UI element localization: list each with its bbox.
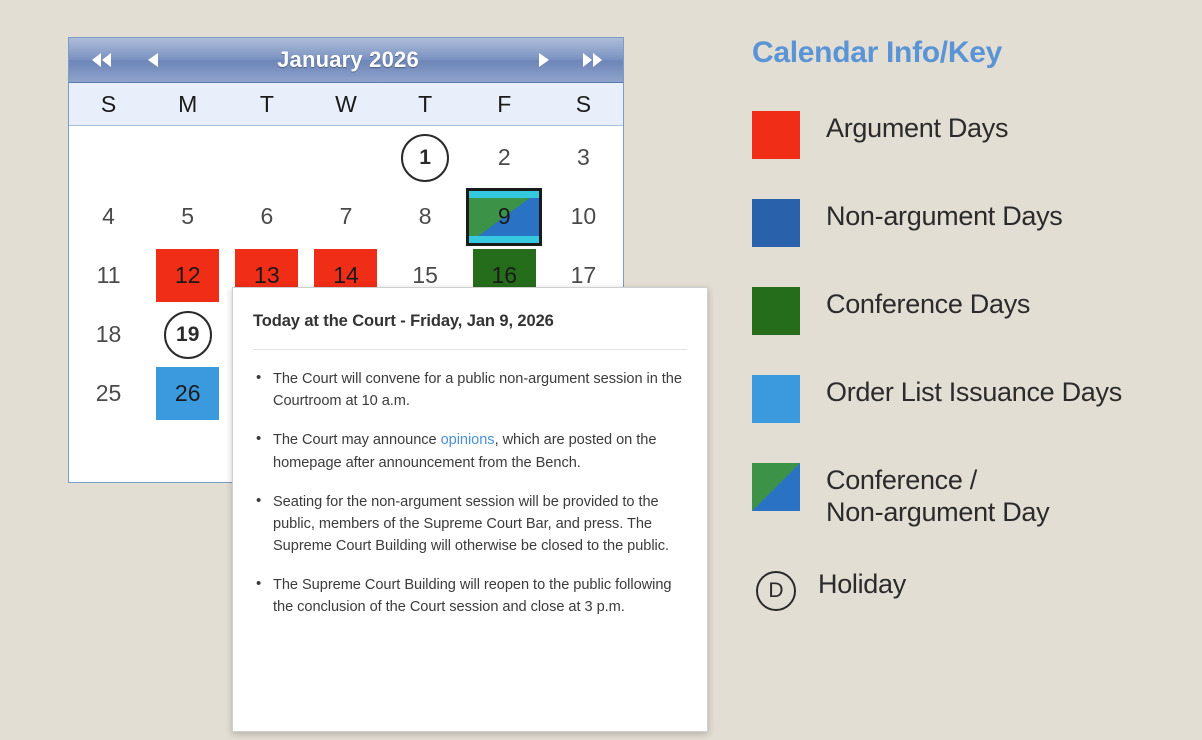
day-cell-empty xyxy=(148,128,227,187)
tooltip-bullet-text: The Court will convene for a public non-… xyxy=(273,371,682,409)
day-cell-empty xyxy=(69,128,148,187)
legend-item: Non-argument Days xyxy=(752,197,1182,247)
next-year-icon[interactable] xyxy=(575,43,609,77)
day-number: 16 xyxy=(491,262,517,289)
tooltip-bullet-text: The Supreme Court Building will reopen t… xyxy=(273,577,671,615)
day-cell[interactable]: 2 xyxy=(465,128,544,187)
weekday-label: T xyxy=(227,83,306,125)
legend-label-line-2: Non-argument Day xyxy=(826,497,1049,529)
day-number: 11 xyxy=(97,262,121,289)
day-number: 13 xyxy=(254,262,280,289)
day-number: 14 xyxy=(333,262,359,289)
weekday-label: T xyxy=(386,83,465,125)
legend-item: Argument Days xyxy=(752,109,1182,159)
calendar-week-row: 45678910 xyxy=(69,187,623,246)
tooltip-bullet: The Supreme Court Building will reopen t… xyxy=(273,574,685,618)
day-cell[interactable]: 26 xyxy=(148,364,227,423)
weekday-label: S xyxy=(544,83,623,125)
legend-color-swatch xyxy=(752,111,800,159)
legend-title: Calendar Info/Key xyxy=(752,36,1182,70)
opinions-link[interactable]: opinions xyxy=(441,432,495,448)
weekday-label: F xyxy=(465,83,544,125)
legend-item: Conference /Non-argument Day xyxy=(752,461,1182,529)
day-number: 7 xyxy=(340,203,353,230)
day-number: 25 xyxy=(96,380,122,407)
prev-year-icon[interactable] xyxy=(85,43,119,77)
day-cell[interactable]: 7 xyxy=(306,187,385,246)
tooltip-bullet: The Court may announce opinions, which a… xyxy=(273,429,685,473)
day-cell[interactable]: 4 xyxy=(69,187,148,246)
day-number: 17 xyxy=(571,262,597,289)
day-number: 10 xyxy=(571,203,597,230)
legend-label-line: Conference / xyxy=(826,465,1049,497)
legend-label-line: Conference Days xyxy=(826,289,1030,321)
legend-label: Non-argument Days xyxy=(826,197,1063,233)
holiday-circle-d-icon: D xyxy=(756,571,796,611)
day-number: 18 xyxy=(96,321,122,348)
day-cell[interactable]: 19 xyxy=(148,305,227,364)
tooltip-bullet: The Court will convene for a public non-… xyxy=(273,368,685,412)
tooltip-bullet-list: The Court will convene for a public non-… xyxy=(233,350,707,619)
legend-label-line: Holiday xyxy=(818,569,906,601)
day-number: 2 xyxy=(498,144,511,171)
weekday-label: M xyxy=(148,83,227,125)
day-number: 9 xyxy=(498,203,511,230)
day-cell[interactable]: 8 xyxy=(386,187,465,246)
legend-label: Conference Days xyxy=(826,285,1030,321)
day-number: 12 xyxy=(175,262,201,289)
legend-label: Argument Days xyxy=(826,109,1008,145)
calendar-title: January 2026 xyxy=(169,47,527,73)
order-list-bar-top xyxy=(469,191,539,198)
day-number: 26 xyxy=(175,380,201,407)
day-box-3[interactable]: 3 xyxy=(552,131,615,184)
calendar-week-row: 123 xyxy=(69,128,623,187)
day-box-7[interactable]: 7 xyxy=(314,190,377,243)
day-number: 5 xyxy=(181,203,194,230)
day-number: 1 xyxy=(419,146,431,170)
day-box-10[interactable]: 10 xyxy=(552,190,615,243)
weekday-header-row: SMTWTFS xyxy=(69,83,623,126)
day-number: 3 xyxy=(577,144,590,171)
day-box-11[interactable]: 11 xyxy=(77,249,140,302)
day-cell[interactable]: 25 xyxy=(69,364,148,423)
day-box-25[interactable]: 25 xyxy=(77,367,140,420)
day-cell-empty xyxy=(227,128,306,187)
day-number: 15 xyxy=(412,262,438,289)
legend-label: Order List Issuance Days xyxy=(826,373,1122,409)
legend-color-swatch xyxy=(752,463,800,511)
day-cell[interactable]: 12 xyxy=(148,246,227,305)
day-box-5[interactable]: 5 xyxy=(156,190,219,243)
weekday-label: W xyxy=(306,83,385,125)
weekday-label: S xyxy=(69,83,148,125)
legend-label-line: Non-argument Days xyxy=(826,201,1063,233)
day-box-2[interactable]: 2 xyxy=(473,131,536,184)
day-cell[interactable]: 18 xyxy=(69,305,148,364)
day-box-9[interactable]: 9 xyxy=(466,188,542,246)
today-at-the-court-tooltip: Today at the Court - Friday, Jan 9, 2026… xyxy=(232,287,708,732)
legend-item: Conference Days xyxy=(752,285,1182,335)
order-list-bar-bottom xyxy=(469,236,539,243)
legend-label: Holiday xyxy=(818,565,906,601)
legend-item: DHoliday xyxy=(752,565,1182,611)
day-cell[interactable]: 9 xyxy=(465,187,544,246)
day-cell[interactable]: 1 xyxy=(386,128,465,187)
day-box-12[interactable]: 12 xyxy=(156,249,219,302)
day-number: 4 xyxy=(102,203,115,230)
legend-color-swatch xyxy=(752,199,800,247)
next-month-icon[interactable] xyxy=(527,43,561,77)
day-cell[interactable]: 11 xyxy=(69,246,148,305)
legend-label-line: Order List Issuance Days xyxy=(826,377,1122,409)
legend-label: Conference /Non-argument Day xyxy=(826,461,1049,529)
day-cell[interactable]: 5 xyxy=(148,187,227,246)
day-box-8[interactable]: 8 xyxy=(394,190,457,243)
day-box-26[interactable]: 26 xyxy=(156,367,219,420)
legend-color-swatch xyxy=(752,287,800,335)
day-number: 8 xyxy=(419,203,432,230)
calendar-header: January 2026 xyxy=(69,38,623,83)
day-cell[interactable]: 3 xyxy=(544,128,623,187)
tooltip-bullet-text: Seating for the non-argument session wil… xyxy=(273,494,669,554)
day-cell[interactable]: 6 xyxy=(227,187,306,246)
day-number: 6 xyxy=(260,203,273,230)
day-cell[interactable]: 10 xyxy=(544,187,623,246)
legend-item: Order List Issuance Days xyxy=(752,373,1182,423)
day-box-18[interactable]: 18 xyxy=(77,308,140,361)
day-box-6[interactable]: 6 xyxy=(235,190,298,243)
legend-color-swatch xyxy=(752,375,800,423)
day-box-4[interactable]: 4 xyxy=(77,190,140,243)
day-box-1[interactable]: 1 xyxy=(394,131,457,184)
tooltip-title: Today at the Court - Friday, Jan 9, 2026 xyxy=(233,288,707,331)
prev-month-icon[interactable] xyxy=(135,43,169,77)
day-box-19[interactable]: 19 xyxy=(156,308,219,361)
day-number: 19 xyxy=(176,323,199,347)
tooltip-bullet-text: The Court may announce xyxy=(273,432,441,448)
calendar-legend-panel: Calendar Info/Key Argument DaysNon-argum… xyxy=(752,36,1182,649)
day-cell-empty xyxy=(306,128,385,187)
legend-items: Argument DaysNon-argument DaysConference… xyxy=(752,109,1182,611)
legend-label-line: Argument Days xyxy=(826,113,1008,145)
tooltip-bullet: Seating for the non-argument session wil… xyxy=(273,491,685,558)
